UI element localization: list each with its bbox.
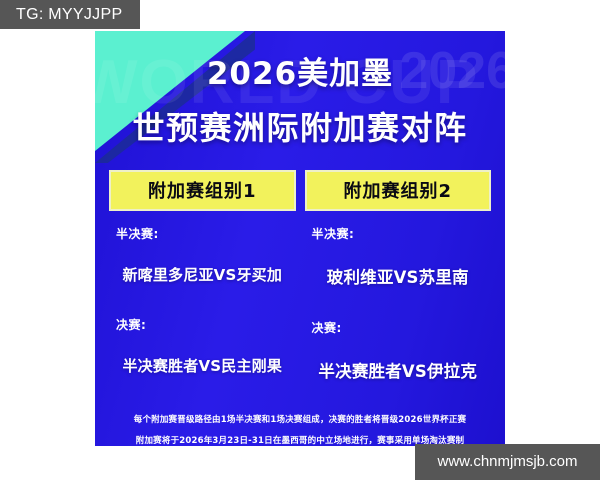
poster-title-line2: 世预赛洲际附加赛对阵: [95, 103, 505, 149]
poster-title-line1: 2026美加墨: [95, 48, 505, 93]
footer-note-1: 每个附加赛晋级路径由1场半决赛和1场决赛组成，决赛的胜者将晋级2026世界杯正赛: [95, 413, 505, 425]
group-2-header: 附加赛组别2: [305, 170, 492, 211]
groups-container: 附加赛组别1 半决赛: 新喀里多尼亚VS牙买加 决赛: 半决赛胜者VS民主刚果 …: [95, 170, 505, 382]
poster-content: 2026美加墨 世预赛洲际附加赛对阵 附加赛组别1 半决赛: 新喀里多尼亚VS牙…: [95, 48, 505, 446]
group-2-semifinal-label: 半决赛:: [305, 225, 492, 242]
group-1-semifinal-label: 半决赛:: [109, 225, 296, 242]
footer-notes: 每个附加赛晋级路径由1场半决赛和1场决赛组成，决赛的胜者将晋级2026世界杯正赛…: [95, 413, 505, 446]
site-watermark: www.chnmjmsjb.com: [415, 444, 600, 480]
group-1-final-match: 半决赛胜者VS民主刚果: [109, 355, 296, 376]
group-1-semifinal-match: 新喀里多尼亚VS牙买加: [109, 264, 296, 285]
group-1-header: 附加赛组别1: [109, 170, 296, 211]
tg-channel-tag: TG: MYYJJPP: [0, 0, 140, 29]
group-1-final-label: 决赛:: [109, 316, 296, 333]
group-2-final-label: 决赛:: [305, 319, 492, 336]
group-2-semifinal-match: 玻利维亚VS苏里南: [305, 264, 492, 288]
group-2-final-match: 半决赛胜者VS伊拉克: [305, 358, 492, 382]
group-1-spacer: [109, 285, 296, 302]
group-column-2: 附加赛组别2 半决赛: 玻利维亚VS苏里南 决赛: 半决赛胜者VS伊拉克: [305, 170, 492, 382]
group-2-spacer: [305, 288, 492, 305]
group-column-1: 附加赛组别1 半决赛: 新喀里多尼亚VS牙买加 决赛: 半决赛胜者VS民主刚果: [109, 170, 296, 382]
tournament-poster: WORLD CUP 2026 2026美加墨 世预赛洲际附加赛对阵 附加赛组别1…: [95, 31, 505, 446]
